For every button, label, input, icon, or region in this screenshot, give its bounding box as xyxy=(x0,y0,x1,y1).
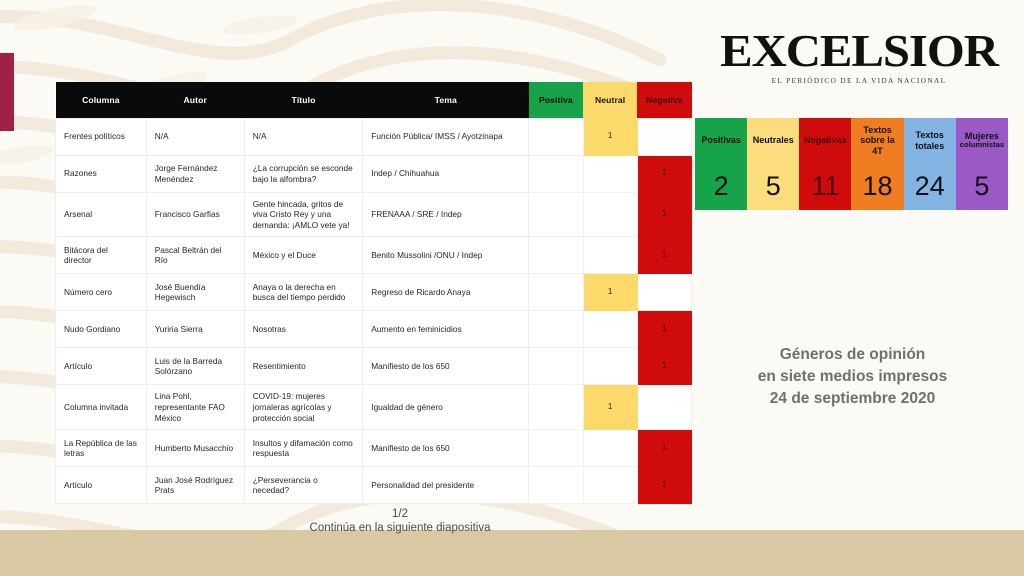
row-titulo: Anaya o la derecha en busca del tiempo p… xyxy=(244,274,363,311)
row-autor: Jorge Fernández Menéndez xyxy=(146,155,244,192)
slide-subtitle: Géneros de opinión en siete medios impre… xyxy=(700,344,1005,410)
row-score-neutral xyxy=(583,192,637,237)
table-row: Frentes políticosN/AN/AFunción Pública/ … xyxy=(56,118,692,155)
row-columna: Bitácora del director xyxy=(56,237,147,274)
row-score-positiva xyxy=(529,192,583,237)
row-score-negativa: 1 xyxy=(637,430,691,467)
row-score-negativa: 1 xyxy=(637,467,691,504)
row-titulo: ¿Perseverancia o necedad? xyxy=(244,467,363,504)
row-score-positiva xyxy=(529,348,583,385)
row-tema: Manifiesto de los 650 xyxy=(363,348,529,385)
page-indicator: 1/2 xyxy=(180,508,620,520)
row-score-neutral xyxy=(583,311,637,348)
table-row: Nudo GordianoYuriria SierraNosotrasAumen… xyxy=(56,311,692,348)
summary-header-0: Positivas xyxy=(695,118,747,163)
table-row: Número ceroJosé Buendía HegewischAnaya o… xyxy=(56,274,692,311)
row-tema: FRENAAA / SRE / Indep xyxy=(363,192,529,237)
table-row: La República de las letrasHumberto Musac… xyxy=(56,430,692,467)
row-autor: Francisco Garfias xyxy=(146,192,244,237)
bottom-color-bar xyxy=(0,530,1024,576)
summary-header-label: Textos totales xyxy=(915,130,944,150)
row-score-positiva xyxy=(529,385,583,430)
row-score-positiva xyxy=(529,274,583,311)
row-score-negativa xyxy=(637,274,691,311)
row-autor: Juan José Rodríguez Prats xyxy=(146,467,244,504)
row-score-positiva xyxy=(529,311,583,348)
row-columna: Columna invitada xyxy=(56,385,147,430)
row-titulo: México y el Duce xyxy=(244,237,363,274)
column-header-tema: Tema xyxy=(363,82,529,118)
summary-value-2: 11 xyxy=(799,163,851,210)
row-score-negativa: 1 xyxy=(637,348,691,385)
row-score-neutral: 1 xyxy=(583,385,637,430)
masthead-name: EXCELSIOR xyxy=(705,28,1012,74)
row-columna: Arsenal xyxy=(56,192,147,237)
summary-header-label: Negativas xyxy=(804,135,847,145)
row-columna: Artículo xyxy=(56,467,147,504)
table-row: Columna invitadaLina Pohl, representante… xyxy=(56,385,692,430)
summary-value-0: 2 xyxy=(695,163,747,210)
summary-header-4: Textos totales xyxy=(904,118,956,163)
row-autor: Pascal Beltrán del Río xyxy=(146,237,244,274)
row-score-neutral xyxy=(583,467,637,504)
row-columna: La República de las letras xyxy=(56,430,147,467)
row-score-negativa: 1 xyxy=(637,155,691,192)
row-titulo: N/A xyxy=(244,118,363,155)
row-score-positiva xyxy=(529,155,583,192)
row-columna: Nudo Gordiano xyxy=(56,311,147,348)
row-columna: Número cero xyxy=(56,274,147,311)
row-autor: José Buendía Hegewisch xyxy=(146,274,244,311)
row-autor: Luis de la Barreda Solórzano xyxy=(146,348,244,385)
column-header-columna: Columna xyxy=(56,82,147,118)
row-score-positiva xyxy=(529,118,583,155)
row-score-negativa: 1 xyxy=(637,311,691,348)
table-row: ArtículoLuis de la Barreda SolórzanoRese… xyxy=(56,348,692,385)
row-score-negativa xyxy=(637,385,691,430)
column-header-neutral: Neutral xyxy=(583,82,637,118)
summary-value-3: 18 xyxy=(851,163,903,210)
table-row: ArsenalFrancisco GarfiasGente hincada, g… xyxy=(56,192,692,237)
left-accent-bar xyxy=(0,53,14,131)
excelsior-masthead: EXCELSIOR EL PERIÓDICO DE LA VIDA NACION… xyxy=(714,28,1004,85)
row-tema: Función Pública/ IMSS / Ayotzinapa xyxy=(363,118,529,155)
row-autor: Lina Pohl, representante FAO México xyxy=(146,385,244,430)
summary-counts-table: PositivasNeutralesNegativasTextos sobre … xyxy=(695,118,1008,210)
row-score-negativa: 1 xyxy=(637,192,691,237)
summary-header-label: Neutrales xyxy=(753,135,794,145)
row-titulo: ¿La corrupción se esconde bajo la alfomb… xyxy=(244,155,363,192)
row-score-neutral xyxy=(583,348,637,385)
row-score-neutral: 1 xyxy=(583,118,637,155)
summary-header-3: Textos sobre la 4T xyxy=(851,118,903,163)
row-tema: Benito Mussolini /ONU / Indep xyxy=(363,237,529,274)
row-autor: N/A xyxy=(146,118,244,155)
row-titulo: Nosotras xyxy=(244,311,363,348)
slide-footer: 1/2 Continúa en la siguiente diapositiva xyxy=(180,508,620,534)
row-tema: Indep / Chihuahua xyxy=(363,155,529,192)
summary-value-1: 5 xyxy=(747,163,799,210)
subtitle-line-3: 24 de septiembre 2020 xyxy=(700,388,1005,410)
row-tema: Regreso de Ricardo Anaya xyxy=(363,274,529,311)
row-score-positiva xyxy=(529,467,583,504)
summary-header-5: Mujerescolumnistas xyxy=(956,118,1008,163)
summary-header-sublabel: columnistas xyxy=(959,141,1005,150)
opinion-columns-table: Columna Autor Título Tema Positiva Neutr… xyxy=(55,82,692,504)
row-score-neutral xyxy=(583,430,637,467)
summary-header-label: Textos sobre la 4T xyxy=(860,125,895,156)
summary-value-row: 251118245 xyxy=(695,163,1008,210)
column-header-titulo: Título xyxy=(244,82,363,118)
row-columna: Frentes políticos xyxy=(56,118,147,155)
continuation-note: Continúa en la siguiente diapositiva xyxy=(180,522,620,534)
row-score-negativa: 1 xyxy=(637,237,691,274)
masthead-tagline: EL PERIÓDICO DE LA VIDA NACIONAL xyxy=(714,76,1004,85)
row-score-neutral: 1 xyxy=(583,274,637,311)
row-columna: Razones xyxy=(56,155,147,192)
table-row: RazonesJorge Fernández Menéndez¿La corru… xyxy=(56,155,692,192)
subtitle-line-1: Géneros de opinión xyxy=(700,344,1005,366)
column-header-positiva: Positiva xyxy=(529,82,583,118)
row-tema: Manifiesto de los 650 xyxy=(363,430,529,467)
column-header-negativa: Negativa xyxy=(637,82,691,118)
summary-header-1: Neutrales xyxy=(747,118,799,163)
summary-header-row: PositivasNeutralesNegativasTextos sobre … xyxy=(695,118,1008,163)
table-row: ArtículoJuan José Rodríguez Prats¿Persev… xyxy=(56,467,692,504)
summary-header-label: Positivas xyxy=(701,135,741,145)
summary-value-5: 5 xyxy=(956,163,1008,210)
row-tema: Igualdad de género xyxy=(363,385,529,430)
row-columna: Artículo xyxy=(56,348,147,385)
row-titulo: COVID-19: mujeres jornaleras agrícolas y… xyxy=(244,385,363,430)
row-titulo: Insultos y difamación como respuesta xyxy=(244,430,363,467)
summary-header-2: Negativas xyxy=(799,118,851,163)
row-titulo: Gente hincada, gritos de viva Cristo Rey… xyxy=(244,192,363,237)
row-autor: Humberto Musacchio xyxy=(146,430,244,467)
row-score-negativa xyxy=(637,118,691,155)
table-body: Frentes políticosN/AN/AFunción Pública/ … xyxy=(56,118,692,504)
row-score-positiva xyxy=(529,430,583,467)
row-score-neutral xyxy=(583,155,637,192)
row-autor: Yuriria Sierra xyxy=(146,311,244,348)
row-score-positiva xyxy=(529,237,583,274)
row-tema: Aumento en feminicidios xyxy=(363,311,529,348)
summary-value-4: 24 xyxy=(904,163,956,210)
table-header-row: Columna Autor Título Tema Positiva Neutr… xyxy=(56,82,692,118)
row-titulo: Resentimiento xyxy=(244,348,363,385)
row-score-neutral xyxy=(583,237,637,274)
subtitle-line-2: en siete medios impresos xyxy=(700,366,1005,388)
row-tema: Personalidad del presidente xyxy=(363,467,529,504)
column-header-autor: Autor xyxy=(146,82,244,118)
table-row: Bitácora del directorPascal Beltrán del … xyxy=(56,237,692,274)
